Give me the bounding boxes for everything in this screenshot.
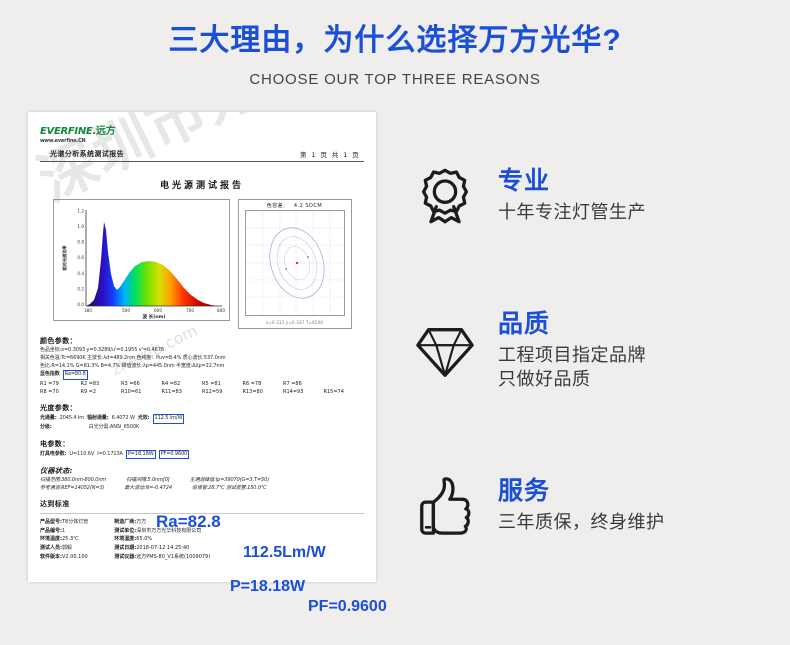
ra-row: 显色指数 Ra=80.8	[40, 370, 364, 380]
info-row: 产品编号:1	[40, 527, 88, 536]
feature-item-quality: 品质 工程项目指定品牌 只做好品质	[414, 273, 790, 428]
svg-text:380: 380	[84, 308, 92, 313]
info-value: T8分体灯管	[62, 519, 88, 525]
cd-footer: x=0.313 y=0.337 T=6500	[239, 320, 351, 325]
info-value: 万方	[136, 519, 146, 525]
info-label: 产品型号:	[40, 519, 62, 525]
info-row: 测试日期:2018-07-12 14:25:40	[114, 544, 210, 553]
feature-text: 专业 十年专注灯管生产	[498, 167, 646, 224]
svg-text:700: 700	[186, 308, 194, 313]
ra-label: 显色指数	[40, 371, 60, 379]
promo-page: 三大理由，为什么选择万方光华? CHOOSE OUR TOP THREE REA…	[0, 0, 790, 645]
info-row: 测试仪器:远方PMS-80_V1系统(1009079)	[114, 553, 210, 562]
efficacy-boxed-value: 112.5 lm/W	[153, 414, 185, 424]
cd-plot-area	[245, 210, 345, 316]
cri-item: R10=61	[121, 388, 162, 396]
feature-list: 专业 十年专注灯管生产 品质 工程项目指定品牌 只做好品质	[414, 112, 790, 583]
feature-desc: 工程项目指定品牌 只做好品质	[498, 343, 646, 392]
logo-cn-name: 远方	[96, 126, 115, 137]
cri-item: R9 =2	[81, 388, 122, 396]
cri-grid: R1 =79 R2 =83 R3 =66 R4 =82 R5 =81 R6 =7…	[40, 380, 364, 396]
svg-text:相对光谱功率: 相对光谱功率	[61, 245, 68, 271]
logo-brand: EVERFINE	[40, 126, 92, 137]
standard-label: 达到标准	[40, 499, 364, 509]
electric-section: 电参数： 灯具电参数: U=110.6V I=0.1713A P=18.18W …	[40, 439, 364, 460]
info-label: 环境湿度:	[114, 536, 136, 542]
instrument-cell: 主通道峰值:Ip=39070(G=3,T=50)	[190, 477, 269, 485]
info-value: 郭毅	[62, 545, 72, 551]
info-row: 环境温度:25.3℃	[40, 535, 88, 544]
radiant-value: 6.4072 W	[112, 415, 135, 423]
instrument-cell: 扫描范围:380.0nm-800.0nm	[40, 477, 106, 485]
logo-mark: EVERFINE.远方	[40, 122, 115, 137]
svg-text:0.4: 0.4	[77, 271, 84, 276]
pf-callout: PF=0.9600	[308, 598, 387, 616]
color-parameters-section: 颜色参数： 色品坐标:x=0.3093 y=0.3289/u'=0.1955 v…	[40, 336, 364, 396]
info-label: 测试仪器:	[114, 554, 136, 560]
svg-text:0.0: 0.0	[77, 302, 84, 307]
efficacy-label: 光效:	[138, 415, 150, 423]
voltage-value: U=110.6V	[69, 451, 94, 459]
svg-text:500: 500	[122, 308, 130, 313]
bin-label: 分级:	[40, 424, 52, 432]
flux-value: 2045.4 lm	[60, 415, 84, 423]
svg-text:0.6: 0.6	[77, 255, 84, 260]
report-system-name: 光谱分析系统测试报告	[50, 149, 124, 159]
svg-text:0.8: 0.8	[77, 240, 84, 245]
cri-item: R15=74	[324, 388, 365, 396]
cri-item: R11=83	[162, 388, 203, 396]
info-value: V2.00.100	[62, 554, 88, 560]
svg-text:0.2: 0.2	[77, 286, 84, 291]
feature-title: 服务	[498, 477, 665, 506]
instrument-cell: 扫描间隔:5.0nm[0]	[126, 477, 169, 485]
info-value: 25.3℃	[62, 536, 79, 542]
cri-item: R6 =78	[243, 380, 284, 388]
instrument-row: 参考通道:REF=14052(N=3) 最大波动:N=-0.4724 伯增管:2…	[40, 485, 364, 493]
cri-item	[324, 380, 365, 388]
current-value: I=0.1713A	[97, 451, 123, 459]
report-charts: 1.2 1.0 0.8 0.6 0.4 0.2 0.0	[40, 199, 364, 329]
bin-line: 分级: 白光分需:ANSI_6500K	[40, 424, 364, 432]
ra-callout: Ra=82.8	[156, 512, 221, 532]
report-doc-title: 电光源测试报告	[40, 178, 364, 191]
svg-text:800: 800	[217, 308, 225, 313]
spd-chart: 1.2 1.0 0.8 0.6 0.4 0.2 0.0	[53, 199, 230, 321]
pf-boxed-value: PF=0.9600	[159, 450, 190, 460]
color-line-3: 色比:R=14.1% G=81.3% B=4.7% 峰值波长:λp=445.0n…	[40, 363, 364, 371]
feature-item-professional: 专业 十年专注灯管生产	[414, 118, 790, 273]
spd-chart-svg: 1.2 1.0 0.8 0.6 0.4 0.2 0.0	[54, 200, 229, 320]
product-info-left: 产品型号:T8分体灯管 产品编号:1 环境温度:25.3℃ 测试人员:郭毅 软件…	[40, 518, 88, 562]
color-line-2: 相关色温:Tc=6690K 主波长:λd=489.2nm 色纯度：Puv=8.4…	[40, 355, 364, 363]
info-value: 1	[62, 528, 65, 534]
efficacy-callout: 112.5Lm/W	[243, 544, 326, 562]
electric-title: 电参数：	[40, 439, 364, 449]
cri-item: R14=93	[283, 388, 324, 396]
logo-url: www.everfine.CN	[40, 138, 115, 144]
info-label: 软件版本:	[40, 554, 62, 560]
instrument-section: 仪器状态: 扫描范围:380.0nm-800.0nm 扫描间隔:5.0nm[0]…	[40, 466, 364, 493]
feature-text: 品质 工程项目指定品牌 只做好品质	[498, 310, 646, 391]
info-label: 测试日期:	[114, 545, 136, 551]
feature-desc: 十年专注灯管生产	[498, 200, 646, 224]
info-value: 65.0%	[136, 536, 152, 542]
power-boxed-value: P=18.18W	[126, 450, 156, 460]
svg-text:1.0: 1.0	[77, 224, 84, 229]
info-label: 测试单位:	[114, 528, 136, 534]
feature-item-service: 服务 三年质保，终身维护	[414, 428, 790, 583]
main-content: 深圳市万方光华科技有限公司 zhereb.com EVERFINE.远方 www…	[0, 88, 790, 583]
cri-item: R12=59	[202, 388, 243, 396]
svg-text:波 长(nm): 波 长(nm)	[142, 313, 165, 320]
instrument-cell: 最大波动:N=-0.4724	[124, 485, 172, 493]
info-label: 产品编号:	[40, 528, 62, 534]
photometric-line: 光通量: 2045.4 lm 辐射通量: 6.4072 W 光效: 112.5 …	[40, 414, 364, 424]
everfine-logo: EVERFINE.远方 www.everfine.CN	[40, 122, 364, 144]
report-page-number: 第 1 页 共 1 页	[300, 149, 360, 159]
color-deviation-chart: 色容差: 4.2 SDCM	[238, 199, 352, 329]
electric-label: 灯具电参数:	[40, 451, 66, 459]
diamond-icon	[414, 320, 476, 382]
info-row: 软件版本:V2.00.100	[40, 553, 88, 562]
svg-text:600: 600	[154, 308, 162, 313]
svg-text:1.2: 1.2	[77, 209, 84, 214]
electric-line: 灯具电参数: U=110.6V I=0.1713A P=18.18W PF=0.…	[40, 450, 364, 460]
award-ribbon-icon	[414, 165, 476, 227]
feature-desc: 三年质保，终身维护	[498, 510, 665, 534]
photometric-title: 光度参数：	[40, 403, 364, 413]
color-line-1: 色品坐标:x=0.3093 y=0.3289/u'=0.1955 v'=0.46…	[40, 347, 364, 355]
info-row: 环境湿度:65.0%	[114, 535, 210, 544]
thumbs-up-icon	[414, 475, 476, 537]
cri-item: R5 =81	[202, 380, 243, 388]
page-title: 三大理由，为什么选择万方光华?	[0, 24, 790, 57]
info-label: 测试人员:	[40, 545, 62, 551]
radiant-label: 辐射通量:	[87, 415, 109, 423]
page-subtitle: CHOOSE OUR TOP THREE REASONS	[0, 71, 790, 88]
feature-text: 服务 三年质保，终身维护	[498, 477, 665, 534]
info-value: 2018-07-12 14:25:40	[136, 545, 189, 551]
instrument-cell: 伯增管:28.7℃ 测试装置:150.0℃	[192, 485, 267, 493]
photometric-section: 光度参数： 光通量: 2045.4 lm 辐射通量: 6.4072 W 光效: …	[40, 403, 364, 432]
info-row: 测试人员:郭毅	[40, 544, 88, 553]
cd-label: 色容差:	[267, 203, 286, 209]
cri-item: R13=80	[243, 388, 284, 396]
bin-value: 白光分需:ANSI_6500K	[89, 424, 140, 432]
cd-value: 4.2 SDCM	[294, 203, 322, 209]
power-callout: P=18.18W	[230, 578, 305, 596]
info-value: 远方PMS-80_V1系统(1009079)	[136, 554, 210, 560]
instrument-cell: 参考通道:REF=14052(N=3)	[40, 485, 104, 493]
cd-plot-svg	[246, 211, 345, 315]
cri-item: R3 =66	[121, 380, 162, 388]
ra-boxed-value: Ra=80.8	[63, 370, 88, 380]
cri-item: R7 =86	[283, 380, 324, 388]
info-row: 产品型号:T8分体灯管	[40, 518, 88, 527]
report-header-bar: 光谱分析系统测试报告 第 1 页 共 1 页	[40, 146, 364, 162]
cri-item: R2 =83	[81, 380, 122, 388]
info-label: 制造厂商:	[114, 519, 136, 525]
color-deviation-caption: 色容差: 4.2 SDCM	[239, 200, 351, 210]
info-label: 环境温度:	[40, 536, 62, 542]
flux-label: 光通量:	[40, 415, 57, 423]
test-report-panel: 深圳市万方光华科技有限公司 zhereb.com EVERFINE.远方 www…	[28, 112, 376, 582]
cri-item: R8 =70	[40, 388, 81, 396]
instrument-row: 扫描范围:380.0nm-800.0nm 扫描间隔:5.0nm[0] 主通道峰值…	[40, 477, 364, 485]
feature-title: 专业	[498, 167, 646, 196]
instrument-title: 仪器状态:	[40, 466, 364, 476]
page-header: 三大理由，为什么选择万方光华? CHOOSE OUR TOP THREE REA…	[0, 0, 790, 88]
color-section-title: 颜色参数：	[40, 336, 364, 346]
feature-title: 品质	[498, 310, 646, 339]
cri-item: R1 =79	[40, 380, 81, 388]
cri-item: R4 =82	[162, 380, 203, 388]
